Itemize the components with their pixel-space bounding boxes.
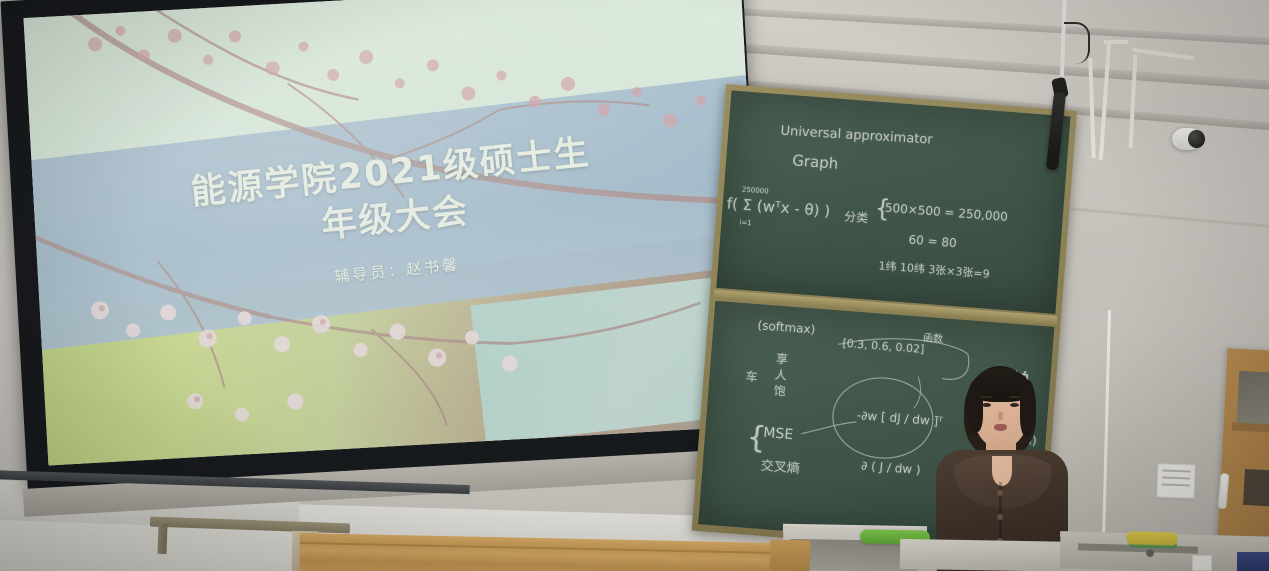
- presenter-button: [997, 490, 1003, 496]
- chalk-note-calc3: 1纬 10纬 3张×3张=9: [878, 257, 990, 282]
- presenter-brow-right: [1009, 396, 1020, 398]
- presenter-eye-left: [982, 403, 991, 407]
- camera-lens-icon: [1188, 130, 1205, 148]
- chalk-note-sum-upper: 250000: [742, 186, 769, 196]
- door-glass-panel: [1237, 371, 1269, 425]
- yellow-tray[interactable]: [1126, 531, 1178, 545]
- presenter-collar-notch: [992, 456, 1012, 486]
- blue-box-object: [1237, 552, 1269, 571]
- screen-frame: 能源学院2021级硕士生 年级大会 辅导员：赵书馨: [1, 0, 769, 491]
- lecture-hall-photo: ViewMax: [0, 0, 1269, 571]
- wall-notice-paper: [1156, 463, 1195, 498]
- wall-conduit: [1104, 40, 1128, 44]
- metal-support-leg: [157, 524, 167, 554]
- chalk-note-sum-lower: i=1: [739, 218, 752, 227]
- presenter-hair-left: [967, 380, 983, 432]
- presenter-brow-left: [981, 396, 992, 398]
- projector-light-haze: [24, 0, 766, 465]
- chalk-note-graph: Graph: [792, 151, 839, 172]
- door-lower-panel: [1243, 469, 1269, 507]
- desk-label-tag: [1192, 555, 1212, 571]
- chalk-note-universal-approximator: Universal approximator: [780, 124, 933, 148]
- chalk-note-calc2: 60 = 80: [908, 232, 957, 250]
- desk-knob[interactable]: [1146, 549, 1154, 557]
- chalk-note-classification: 分类: [844, 207, 869, 226]
- presenter-nose: [998, 412, 1003, 420]
- wooden-rail-right: [770, 540, 811, 571]
- presenter-hair-right: [1020, 380, 1036, 436]
- slide-canvas: 能源学院2021级硕士生 年级大会 辅导员：赵书馨: [24, 0, 766, 465]
- projection-screen: ViewMax: [0, 0, 789, 536]
- presenter-mouth: [994, 424, 1007, 431]
- presenter-eye-right: [1010, 403, 1019, 407]
- chalk-note-calc1: 500×500 = 250,000: [884, 201, 1008, 224]
- blackboard-top-panel: Universal approximator Graph f( Σ (wᵀx -…: [716, 90, 1070, 314]
- microphone-cable: [1064, 22, 1090, 64]
- chalk-note-formula: f( Σ (wᵀx - θ) ): [726, 194, 831, 220]
- presenter-button: [997, 514, 1003, 520]
